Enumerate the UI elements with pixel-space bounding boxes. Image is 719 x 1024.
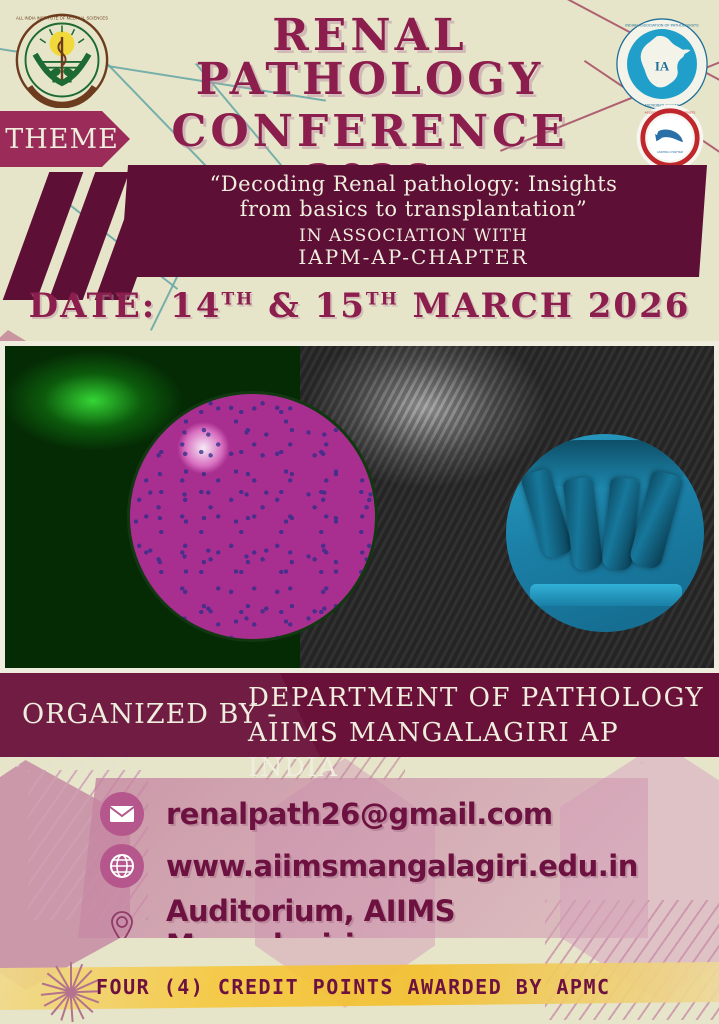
organizer-details: DEPARTMENT OF PATHOLOGY AIIMS MANGALAGIR… [248,681,719,786]
email-icon [100,792,144,836]
date-prefix: DATE: 14 [29,286,222,326]
title-line-2: CONFERENCE [120,110,620,154]
starburst-icon [38,958,104,1024]
title-line-1: RENAL PATHOLOGY [120,14,620,102]
microscope-stage [530,584,682,606]
date-middle: & 15 [254,286,366,326]
date-suffix: MARCH 2026 [399,286,691,326]
website-value: www.aiimsmangalagiri.edu.in [166,849,638,883]
svg-text:ASSOCIATION OF PATHOLOGISTS: ASSOCIATION OF PATHOLOGISTS [645,111,696,115]
aiims-mangalagiri-logo: ALL INDIA INSTITUTE OF MEDICAL SCIENCES [14,12,110,108]
organized-by-label: ORGANIZED BY - [22,699,277,730]
organizer-line-2: AIIMS MANGALAGIRI AP INDIA [248,716,719,786]
association-name: IAPM-AP-CHAPTER [298,246,528,270]
svg-text:ANDHRA CHAPTER: ANDHRA CHAPTER [657,150,683,154]
globe-icon [100,844,144,888]
svg-text:INDIAN ASSOCIATION OF PATHOLOG: INDIAN ASSOCIATION OF PATHOLOGISTS [625,23,699,27]
date-sup-1: TH [222,290,255,310]
credit-text: FOUR (4) CREDIT POINTS AWARDED BY APMC [96,975,611,999]
conference-date: DATE: 14TH & 15TH MARCH 2026 [0,286,719,326]
pas-stain-circle-image [127,391,378,642]
theme-banner: “Decoding Renal pathology: Insights from… [120,165,707,277]
theme-label-text: THEME [5,124,119,155]
organized-by-banner: ORGANIZED BY - DEPARTMENT OF PATHOLOGY A… [0,673,719,757]
imagery-band [0,341,719,673]
microscope-objective-2 [563,477,604,572]
contact-row-email[interactable]: renalpath26@gmail.com [100,792,553,836]
email-value: renalpath26@gmail.com [166,797,553,831]
contact-card: renalpath26@gmail.com www.aiimsmangalagi… [78,778,648,938]
microscope-objective-circle-image [506,434,704,632]
theme-quote-line-1: “Decoding Renal pathology: Insights [210,172,618,197]
svg-text:ALL INDIA INSTITUTE OF MEDICAL: ALL INDIA INSTITUTE OF MEDICAL SCIENCES [16,16,108,21]
theme-quote-line-2: from basics to transplantation” [240,197,588,222]
conference-poster: ALL INDIA INSTITUTE OF MEDICAL SCIENCES … [0,0,719,1024]
iapm-logo: IA INDIAN ASSOCIATION OF PATHOLOGISTS MI… [616,18,708,110]
association-label: IN ASSOCIATION WITH [299,226,528,246]
organizer-line-1: DEPARTMENT OF PATHOLOGY [248,681,719,716]
iapm-ap-chapter-logo: ASSOCIATION OF PATHOLOGISTS ANDHRA CHAPT… [636,104,704,172]
svg-text:IA: IA [655,59,670,73]
contact-row-website[interactable]: www.aiimsmangalagiri.edu.in [100,844,638,888]
date-sup-2: TH [366,290,399,310]
